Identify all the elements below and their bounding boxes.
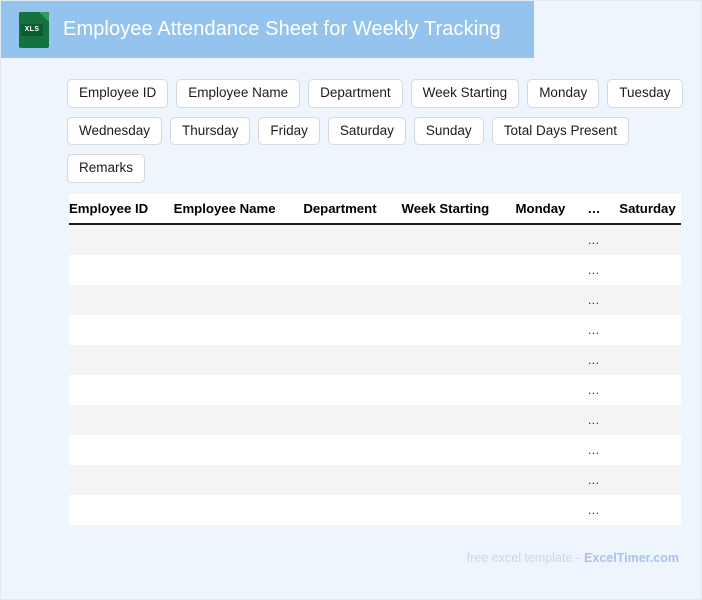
table-cell[interactable]	[303, 495, 401, 525]
table-row[interactable]: ...	[69, 375, 681, 405]
table-cell[interactable]	[303, 435, 401, 465]
column-tag[interactable]: Saturday	[328, 117, 406, 146]
table-column-header[interactable]: Monday	[516, 194, 588, 224]
table-cell[interactable]	[174, 345, 304, 375]
table-row[interactable]: ...	[69, 405, 681, 435]
table-cell[interactable]	[402, 255, 516, 285]
column-tag[interactable]: Friday	[258, 117, 320, 146]
column-tag[interactable]: Thursday	[170, 117, 250, 146]
table-cell[interactable]	[174, 224, 304, 255]
table-cell[interactable]	[174, 495, 304, 525]
table-cell[interactable]: ...	[588, 345, 619, 375]
column-tag[interactable]: Employee Name	[176, 79, 300, 108]
table-cell[interactable]	[303, 345, 401, 375]
table-body: ..............................	[69, 224, 681, 525]
table-cell[interactable]	[516, 435, 588, 465]
table-cell[interactable]	[516, 495, 588, 525]
table-cell[interactable]	[174, 375, 304, 405]
table-cell[interactable]	[619, 465, 681, 495]
table-cell[interactable]	[69, 495, 174, 525]
table-cell[interactable]	[174, 435, 304, 465]
table-column-header[interactable]: ...	[588, 194, 619, 224]
table-row[interactable]: ...	[69, 315, 681, 345]
table-cell[interactable]	[303, 375, 401, 405]
footer-credit: free excel template -ExcelTimer.com	[467, 551, 679, 565]
table-row[interactable]: ...	[69, 285, 681, 315]
page-title: Employee Attendance Sheet for Weekly Tra…	[63, 18, 501, 41]
table-cell[interactable]	[303, 255, 401, 285]
table-cell[interactable]	[303, 465, 401, 495]
table-cell[interactable]	[69, 435, 174, 465]
table-column-header[interactable]: Week Starting	[402, 194, 516, 224]
column-tag[interactable]: Tuesday	[607, 79, 682, 108]
table-cell[interactable]	[516, 285, 588, 315]
table-row[interactable]: ...	[69, 465, 681, 495]
table-cell[interactable]	[402, 435, 516, 465]
table-cell[interactable]	[69, 405, 174, 435]
xls-file-icon: XLS	[19, 12, 49, 48]
table-column-header[interactable]: Department	[303, 194, 401, 224]
table-cell[interactable]	[402, 375, 516, 405]
table-cell[interactable]: ...	[588, 224, 619, 255]
table-cell[interactable]: ...	[588, 495, 619, 525]
column-tag[interactable]: Week Starting	[411, 79, 520, 108]
column-tag[interactable]: Employee ID	[67, 79, 168, 108]
table-header-row: Employee IDEmployee NameDepartmentWeek S…	[69, 194, 681, 224]
table-cell[interactable]	[303, 405, 401, 435]
title-bar: XLS Employee Attendance Sheet for Weekly…	[1, 1, 534, 58]
table-cell[interactable]	[619, 495, 681, 525]
table-cell[interactable]	[174, 465, 304, 495]
table-cell[interactable]	[619, 285, 681, 315]
table-cell[interactable]	[516, 315, 588, 345]
table-cell[interactable]	[69, 285, 174, 315]
column-tag[interactable]: Monday	[527, 79, 599, 108]
table-cell[interactable]: ...	[588, 255, 619, 285]
footer-lead-text: free excel template -	[467, 551, 580, 565]
table-column-header[interactable]: Saturday	[619, 194, 681, 224]
footer-brand-link[interactable]: ExcelTimer.com	[584, 551, 679, 565]
table-cell[interactable]	[619, 435, 681, 465]
table-cell[interactable]	[69, 315, 174, 345]
table-cell[interactable]: ...	[588, 465, 619, 495]
table-cell[interactable]	[402, 405, 516, 435]
column-tag-list: Employee IDEmployee NameDepartmentWeek S…	[67, 79, 687, 183]
table-cell[interactable]: ...	[588, 405, 619, 435]
table-cell[interactable]	[402, 315, 516, 345]
table-cell[interactable]	[69, 224, 174, 255]
table-cell[interactable]	[619, 315, 681, 345]
table-cell[interactable]	[303, 224, 401, 255]
table-cell[interactable]	[303, 285, 401, 315]
table-row[interactable]: ...	[69, 224, 681, 255]
table-cell[interactable]	[516, 405, 588, 435]
table-cell[interactable]	[69, 255, 174, 285]
xls-icon-label: XLS	[21, 24, 43, 36]
table-cell[interactable]	[402, 465, 516, 495]
table-cell[interactable]	[619, 375, 681, 405]
table-cell[interactable]	[174, 315, 304, 345]
table-row[interactable]: ...	[69, 495, 681, 525]
xls-icon-fold	[39, 12, 49, 22]
table-column-header[interactable]: Employee ID	[69, 194, 174, 224]
column-tag[interactable]: Wednesday	[67, 117, 162, 146]
table-row[interactable]: ...	[69, 435, 681, 465]
table-cell[interactable]	[402, 495, 516, 525]
table-preview-container: Employee IDEmployee NameDepartmentWeek S…	[69, 194, 681, 525]
table-cell[interactable]: ...	[588, 285, 619, 315]
column-tag[interactable]: Total Days Present	[492, 117, 629, 146]
table-cell[interactable]	[402, 345, 516, 375]
attendance-preview-table: Employee IDEmployee NameDepartmentWeek S…	[69, 194, 681, 525]
table-cell[interactable]	[402, 285, 516, 315]
column-tag[interactable]: Sunday	[414, 117, 484, 146]
table-cell[interactable]	[69, 345, 174, 375]
table-cell[interactable]: ...	[588, 375, 619, 405]
table-cell[interactable]	[69, 375, 174, 405]
table-cell[interactable]: ...	[588, 315, 619, 345]
column-tag[interactable]: Remarks	[67, 154, 145, 183]
table-head: Employee IDEmployee NameDepartmentWeek S…	[69, 194, 681, 224]
table-cell[interactable]	[619, 224, 681, 255]
table-cell[interactable]	[174, 285, 304, 315]
table-cell[interactable]	[516, 255, 588, 285]
table-cell[interactable]	[402, 224, 516, 255]
table-row[interactable]: ...	[69, 255, 681, 285]
table-cell[interactable]	[619, 255, 681, 285]
table-cell[interactable]	[174, 255, 304, 285]
table-row[interactable]: ...	[69, 345, 681, 375]
table-cell[interactable]	[516, 375, 588, 405]
table-cell[interactable]: ...	[588, 435, 619, 465]
table-cell[interactable]	[619, 345, 681, 375]
table-cell[interactable]	[69, 465, 174, 495]
table-cell[interactable]	[516, 465, 588, 495]
table-cell[interactable]	[516, 345, 588, 375]
table-cell[interactable]	[619, 405, 681, 435]
table-cell[interactable]	[174, 405, 304, 435]
table-cell[interactable]	[303, 315, 401, 345]
column-tag[interactable]: Department	[308, 79, 403, 108]
table-column-header[interactable]: Employee Name	[174, 194, 304, 224]
table-cell[interactable]	[516, 224, 588, 255]
